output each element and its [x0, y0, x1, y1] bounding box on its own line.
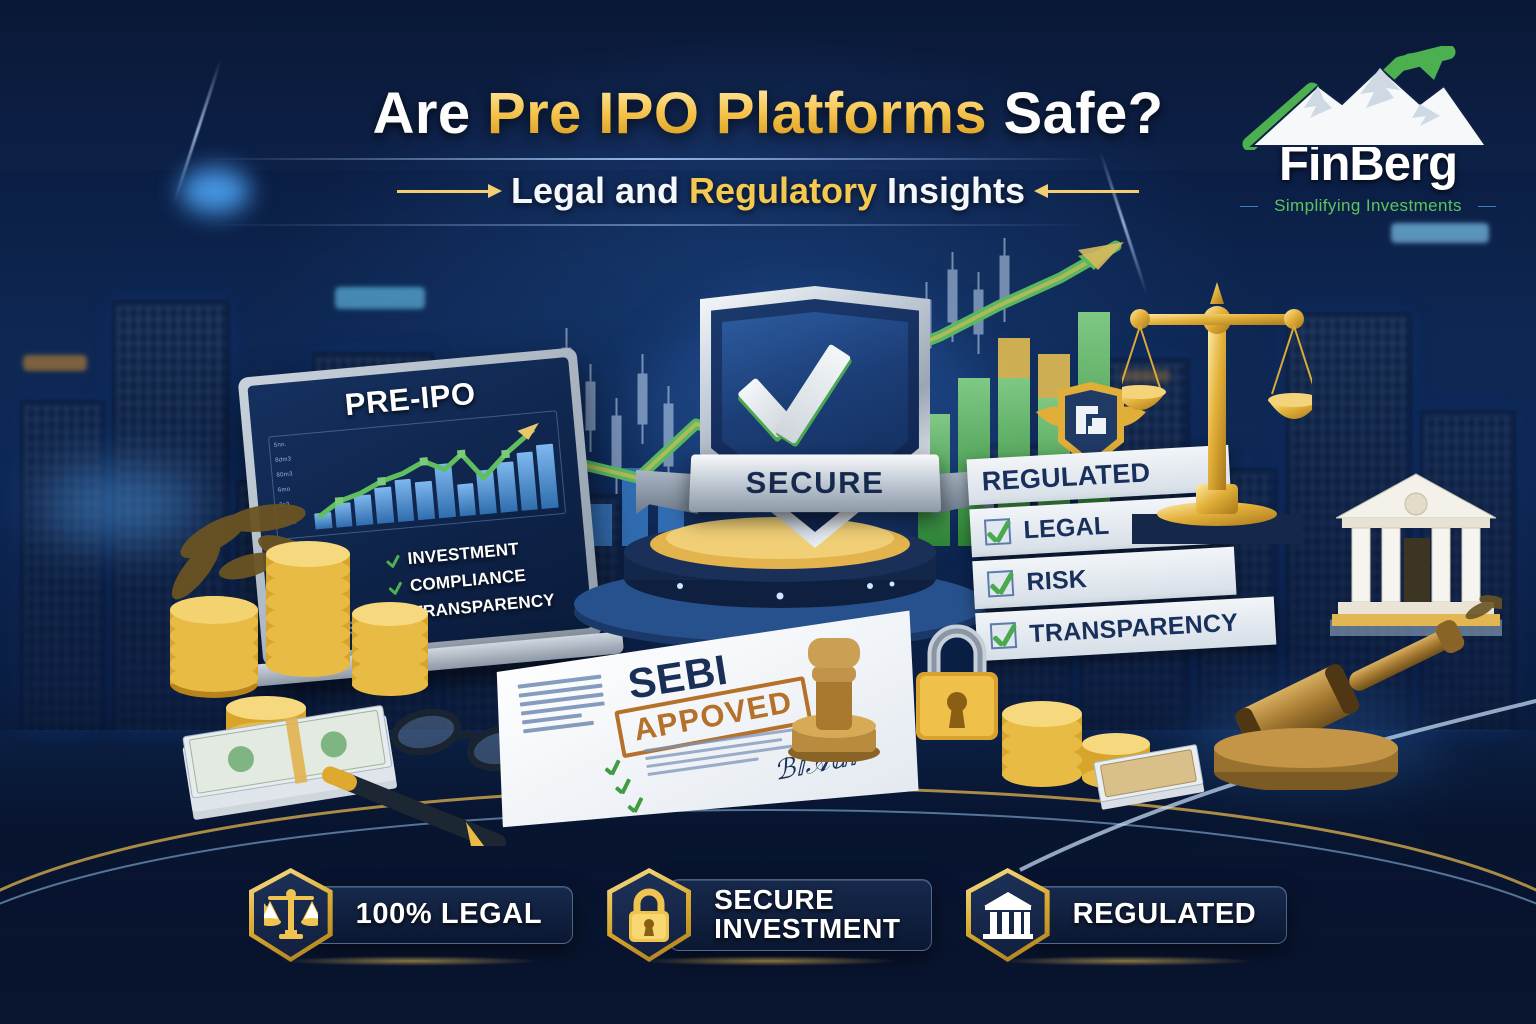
- subtitle-part-1: Legal and: [511, 170, 689, 211]
- scales-of-justice-icon: [249, 868, 333, 962]
- gavel-icon: [1214, 600, 1474, 790]
- badge-100-percent-legal[interactable]: 100% LEGAL: [249, 868, 574, 962]
- subtitle-part-3: Insights: [887, 170, 1025, 211]
- chart-y-label-2: 80m3: [276, 471, 293, 478]
- poster-canvas: Are Pre IPO Platforms Safe? Legal and Re…: [0, 0, 1536, 1024]
- title-part-2: Pre IPO Platforms: [487, 81, 1003, 146]
- bank-building-icon: [966, 868, 1050, 962]
- title-part-3: Safe?: [1003, 81, 1163, 146]
- badge-label-1-line2: INVESTMENT: [714, 913, 900, 944]
- cash-stack-icon: [180, 703, 397, 820]
- desk-props-left: [140, 496, 540, 846]
- header-divider-top: [200, 158, 1100, 160]
- arrow-right-icon: [397, 190, 489, 193]
- mountain-with-growth-arrow-icon: [1234, 46, 1502, 146]
- badge-label-wrap: SECUREINVESTMENT: [669, 879, 931, 951]
- panel-item-1: RISK: [1026, 564, 1088, 596]
- chart-y-label-1: 8dm3: [275, 456, 292, 463]
- badge-label-1-line1: SECURE: [714, 884, 834, 915]
- padlock-icon: [908, 614, 1006, 746]
- document-text-lines: [518, 675, 608, 739]
- pen-icon: [320, 764, 509, 846]
- chart-y-label-0: 5nn.: [274, 442, 287, 449]
- gold-coins-icon: [996, 688, 1206, 828]
- checkmark-icon: [603, 759, 622, 778]
- checkmark-icon: [614, 778, 633, 797]
- chart-y-label-3: 6mo: [278, 487, 291, 494]
- arrow-left-icon: [1047, 190, 1139, 193]
- badge-regulated[interactable]: REGULATED: [966, 868, 1288, 962]
- gavel-stamp-icon: [786, 630, 882, 762]
- subtitle-part-2: Regulatory: [689, 170, 887, 211]
- logo-tagline: Simplifying Investments: [1234, 196, 1502, 216]
- checkbox-checked-icon[interactable]: [984, 518, 1011, 545]
- title-part-1: Are: [373, 81, 487, 146]
- secure-ribbon: SECURE: [636, 454, 994, 516]
- secure-shield-emblem[interactable]: SECURE: [690, 286, 940, 548]
- badge-label-wrap: 100% LEGAL: [311, 886, 574, 944]
- scales-of-justice-icon: [1122, 278, 1312, 546]
- badge-label-2: REGULATED: [1073, 900, 1257, 930]
- checkmark-icon: [748, 348, 880, 444]
- panel-item-0: LEGAL: [1023, 511, 1110, 545]
- ribbon-label: SECURE: [745, 465, 885, 501]
- badge-secure-investment[interactable]: SECUREINVESTMENT: [607, 868, 931, 962]
- trust-badge-row: 100% LEGAL SECUREINVESTMENT: [0, 868, 1536, 962]
- badge-label-wrap: REGULATED: [1028, 886, 1288, 944]
- header-divider-bottom: [200, 224, 1100, 226]
- badge-label-0: 100% LEGAL: [356, 900, 543, 930]
- brand-logo[interactable]: FinBerg Simplifying Investments: [1234, 46, 1502, 232]
- page-subtitle: Legal and Regulatory Insights: [511, 170, 1025, 212]
- checkbox-checked-icon[interactable]: [987, 570, 1014, 597]
- panel-item-2: TRANSPARENCY: [1029, 608, 1239, 649]
- checkmark-icon: [626, 796, 645, 815]
